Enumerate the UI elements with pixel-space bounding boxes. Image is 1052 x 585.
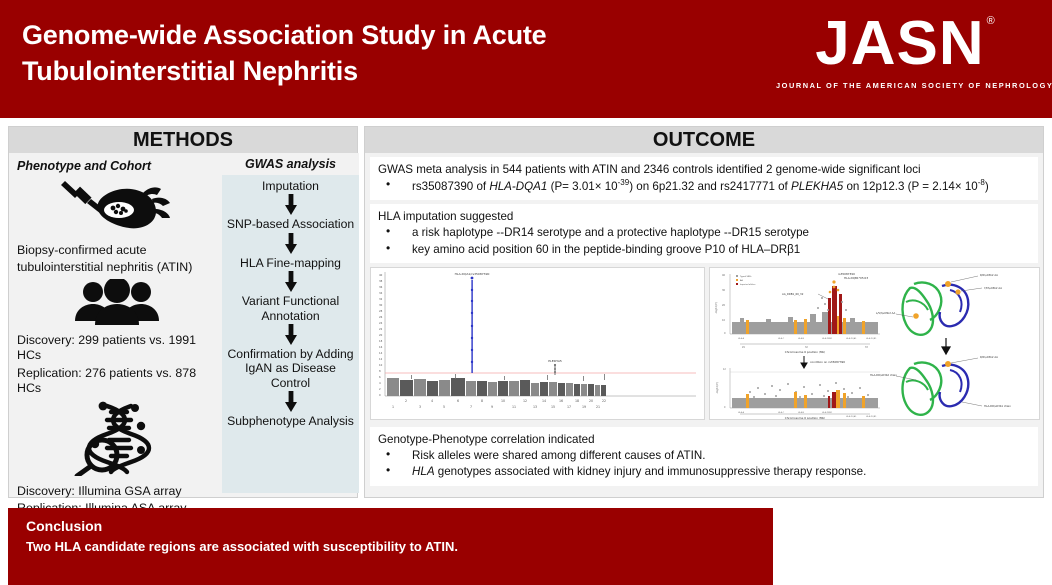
gwas-flowchart: Imputation SNP-based Association HLA Fin…	[222, 175, 359, 493]
conclusion-title: Conclusion	[26, 518, 773, 534]
hla-imputation-bullet-1-text: a risk haplotype --DR14 serotype and a p…	[412, 226, 809, 239]
loci-part-7: )	[985, 180, 989, 193]
page-title: Genome-wide Association Study in Acute T…	[22, 18, 662, 89]
svg-text:0: 0	[724, 332, 726, 335]
svg-text:2: 2	[379, 387, 381, 391]
svg-text:12: 12	[523, 399, 527, 403]
svg-text:28: 28	[379, 309, 383, 313]
hla-imputation-bullet-1: •a risk haplotype --DR14 serotype and a …	[378, 225, 1030, 240]
svg-text:22: 22	[602, 399, 606, 403]
svg-text:40: 40	[379, 273, 383, 277]
svg-text:8: 8	[379, 369, 381, 373]
genotype-phenotype-lead: Genotype-Phenotype correlation indicated	[378, 432, 1030, 447]
gene-hla: HLA	[412, 465, 435, 478]
svg-text:10: 10	[501, 399, 505, 403]
gwas-subtitle: GWAS analysis	[222, 153, 359, 175]
gwas-meta-bullet: •rs35087390 of HLA-DQA1 (P= 3.01× 10-39)…	[378, 178, 1030, 194]
svg-text:10: 10	[722, 319, 726, 322]
gene-plekha5: PLEKHA5	[791, 180, 843, 193]
bullet-icon: •	[386, 224, 390, 240]
genotype-phenotype-bullet-1: •Risk alleles were shared among differen…	[378, 448, 1030, 463]
svg-text:34: 34	[379, 291, 383, 295]
outcome-block-gwas-meta: GWAS meta analysis in 544 patients with …	[370, 157, 1038, 200]
svg-text:HLA-DQA1: HLA-DQA1	[846, 415, 857, 418]
biopsy-caption-line1: Biopsy-confirmed acute	[17, 243, 216, 258]
svg-text:12: 12	[379, 357, 383, 361]
loci-part-6: 10	[962, 180, 978, 193]
conditional-note: condition on rs35087390	[810, 360, 845, 364]
svg-text:18: 18	[379, 339, 383, 343]
svg-text:30: 30	[722, 289, 726, 292]
svg-text:10: 10	[379, 363, 383, 367]
regional-annotation-hla-dqb1: HLA-DQB1*05:03	[844, 276, 868, 280]
regional-annotation-aa-drb1: AA_DRB1_60_32	[782, 292, 804, 296]
cohort-caption-line1: Discovery: 299 patients vs. 1991 HCs	[17, 333, 216, 363]
multiply-icon: ×	[595, 180, 602, 193]
svg-text:HLA-B: HLA-B	[798, 411, 805, 414]
cohort-caption-line2: Replication: 276 patients vs. 878 HCs	[17, 366, 216, 396]
graphical-abstract-page: Genome-wide Association Study in Acute T…	[0, 0, 1052, 585]
outcome-block-genotype-phenotype: Genotype-Phenotype correlation indicated…	[370, 427, 1038, 486]
svg-text:-log10(P): -log10(P)	[715, 382, 719, 394]
svg-text:HLA-C: HLA-C	[778, 337, 785, 340]
structure-label-bottom-3: R/K\u03b2 AA	[980, 355, 998, 359]
conclusion-text: Two HLA candidate regions are associated…	[26, 539, 773, 554]
genotype-phenotype-bullet-2: •HLA genotypes associated with kidney in…	[378, 464, 1030, 479]
methods-heading: METHODS	[9, 127, 357, 153]
svg-text:4: 4	[379, 381, 381, 385]
svg-text:-log10(P): -log10(P)	[714, 302, 718, 314]
structure-label-bottom-2: HLA-DR\u03b1 chain	[984, 404, 1011, 408]
flow-arrow-icon	[222, 271, 359, 293]
flow-arrow-icon	[222, 194, 359, 216]
svg-text:HLA-A: HLA-A	[738, 337, 745, 340]
kidney-biopsy-needle-icon	[17, 177, 216, 240]
jasn-logo-wordmark: JASN ®	[815, 14, 984, 75]
svg-text:16: 16	[379, 345, 383, 349]
outcome-heading: OUTCOME	[365, 127, 1043, 153]
jasn-logo-text: JASN	[815, 9, 984, 78]
svg-text:HLA-DQB1: HLA-DQB1	[866, 337, 877, 340]
loci-part-5: on 12p12.3 (P = 2.14	[843, 180, 955, 193]
svg-text:HLA-A: HLA-A	[738, 411, 745, 414]
svg-text:6: 6	[379, 375, 381, 379]
multiply-icon: ×	[955, 180, 962, 193]
regional-xlabel-top: Chromosome 6 position (Mb)	[785, 350, 825, 354]
svg-text:32: 32	[379, 297, 383, 301]
svg-text:12: 12	[723, 368, 726, 371]
hla-imputation-bullet-2: •key amino acid position 60 in the pepti…	[378, 242, 1030, 257]
flow-arrow-icon	[222, 233, 359, 255]
svg-text:5: 5	[443, 405, 445, 409]
loci-exponent-1: -39	[618, 178, 630, 187]
svg-text:20: 20	[589, 399, 593, 403]
svg-text:21: 21	[596, 405, 600, 409]
methods-panel: METHODS Phenotype and Cohort	[8, 126, 358, 498]
hla-imputation-lead: HLA imputation suggested	[378, 209, 1030, 224]
flow-step-subphenotype-analysis: Subphenotype Analysis	[222, 414, 359, 428]
svg-text:36: 36	[379, 285, 383, 289]
dna-magnifier-icon	[17, 400, 216, 481]
svg-text:38: 38	[379, 279, 383, 283]
svg-text:0: 0	[379, 393, 381, 397]
svg-text:20: 20	[722, 304, 726, 307]
svg-text:HLA-DQA1: HLA-DQA1	[846, 337, 857, 340]
svg-text:8: 8	[481, 399, 483, 403]
loci-part-2: (P= 3.01	[547, 180, 594, 193]
svg-text:3: 3	[419, 405, 421, 409]
page-title-line1: Genome-wide Association Study in Acute	[22, 18, 662, 54]
structure-down-arrow-icon	[942, 338, 950, 354]
svg-text:15: 15	[551, 405, 555, 409]
loci-part-3: 10	[602, 180, 618, 193]
conclusion-banner: Conclusion Two HLA candidate regions are…	[8, 508, 773, 585]
regional-xlabel-bottom: Chromosome 6 position (Mb)	[785, 416, 825, 419]
svg-text:16: 16	[559, 399, 563, 403]
flow-arrow-icon	[222, 324, 359, 346]
bullet-icon: •	[386, 241, 390, 257]
svg-text:2: 2	[405, 399, 407, 403]
jasn-logo: JASN ® JOURNAL OF THE AMERICAN SOCIETY O…	[776, 14, 1024, 90]
manhattan-annotation-hla: HLA-DQA1/rs35087390	[455, 272, 490, 276]
flow-step-imputation: Imputation	[222, 179, 359, 193]
svg-text:29: 29	[742, 346, 745, 349]
manhattan-annotation-plekha5: PLEKHA5	[548, 359, 562, 363]
svg-text:24: 24	[379, 321, 383, 325]
flow-arrow-icon	[222, 391, 359, 413]
hla-imputation-bullet-2-text: key amino acid position 60 in the peptid…	[412, 243, 800, 256]
registered-mark-icon: ®	[987, 16, 996, 27]
protein-structure-top: R/K\u03b2 AA Y/D\u03b2 AA L/V/I\u03b2 AA	[876, 273, 1002, 335]
array-caption-line1: Discovery: Illumina GSA array	[17, 484, 216, 499]
svg-text:14: 14	[542, 399, 546, 403]
flow-step-variant-annotation: Variant Functional Annotation	[222, 294, 359, 323]
svg-text:14: 14	[379, 351, 383, 355]
flow-step-hla-fine-mapping: HLA Fine-mapping	[222, 256, 359, 270]
svg-text:6: 6	[457, 399, 459, 403]
svg-text:Typed SNPs: Typed SNPs	[740, 276, 751, 278]
svg-text:30: 30	[379, 303, 383, 307]
svg-text:9: 9	[491, 405, 493, 409]
svg-text:7: 7	[470, 405, 472, 409]
jasn-logo-tagline: JOURNAL OF THE AMERICAN SOCIETY OF NEPHR…	[776, 81, 1024, 90]
outcome-block-hla-imputation: HLA imputation suggested •a risk haploty…	[370, 204, 1038, 263]
manhattan-plot-figure: 403836 343230 282624 222018 161412 1086 …	[370, 267, 705, 420]
bullet-icon: •	[386, 177, 390, 193]
header-banner: Genome-wide Association Study in Acute T…	[0, 0, 1052, 118]
svg-text:4: 4	[431, 399, 433, 403]
svg-text:40: 40	[722, 274, 726, 277]
genotype-phenotype-bullet-2-text: genotypes associated with kidney injury …	[435, 465, 867, 478]
protein-structure-bottom: R/K\u03b2 AA HLA-DR\u03b2 chain HLA-DR\u…	[870, 355, 1011, 415]
bullet-icon: •	[386, 447, 390, 463]
gwas-meta-lead: GWAS meta analysis in 544 patients with …	[378, 162, 1030, 177]
svg-text:20: 20	[379, 333, 383, 337]
structure-label-bottom-1: HLA-DR\u03b2 chain	[870, 373, 897, 377]
genotype-phenotype-bullet-1-text: Risk alleles were shared among different…	[412, 449, 705, 462]
svg-text:HLA-DRB1: HLA-DRB1	[822, 337, 833, 340]
phenotype-cohort-column: Phenotype and Cohort	[9, 153, 222, 497]
svg-text:17: 17	[567, 405, 571, 409]
hla-regional-and-structure-figure: 4030 20100 -log10(P)	[709, 267, 1040, 420]
page-title-line2: Tubulointerstitial Nephritis	[22, 54, 662, 90]
structure-label-top-2: Y/D\u03b2 AA	[984, 286, 1002, 290]
svg-text:26: 26	[379, 315, 383, 319]
svg-text:13: 13	[533, 405, 537, 409]
bullet-icon: •	[386, 463, 390, 479]
loci-part-1: rs35087390 of	[412, 180, 489, 193]
loci-part-4: ) on 6p21.32 and rs2417771 of	[629, 180, 791, 193]
outcome-panel: OUTCOME GWAS meta analysis in 544 patien…	[364, 126, 1044, 498]
people-group-icon	[17, 279, 216, 330]
svg-text:Imputed alleles: Imputed alleles	[740, 283, 755, 286]
biopsy-caption-line2: tubulointerstitial nephritis (ATIN)	[17, 260, 216, 275]
outcome-figures: 403836 343230 282624 222018 161412 1086 …	[370, 267, 1038, 422]
structure-label-top-3: L/V/I\u03b2 AA	[876, 311, 896, 315]
phenotype-subtitle: Phenotype and Cohort	[17, 159, 216, 173]
gwas-analysis-column: GWAS analysis Imputation SNP-based Assoc…	[222, 153, 359, 497]
svg-text:HLA-C: HLA-C	[778, 411, 785, 414]
svg-text:11: 11	[512, 405, 516, 409]
svg-text:1: 1	[392, 405, 394, 409]
svg-text:HLA-B: HLA-B	[798, 337, 805, 340]
gene-hla-dqa1: HLA-DQA1	[489, 180, 547, 193]
flow-step-snp-association: SNP-based Association	[222, 217, 359, 231]
svg-text:HLA-DRB1: HLA-DRB1	[822, 411, 833, 414]
svg-text:22: 22	[379, 327, 383, 331]
svg-text:0: 0	[724, 406, 726, 409]
structure-label-top-1: R/K\u03b2 AA	[980, 273, 998, 277]
svg-text:33: 33	[865, 346, 868, 349]
svg-text:18: 18	[575, 399, 579, 403]
svg-text:HLA-DQB1: HLA-DQB1	[866, 415, 877, 418]
flow-step-igan-confirmation: Confirmation by Adding IgAN as Disease C…	[222, 347, 359, 390]
svg-text:32: 32	[805, 346, 808, 349]
svg-text:19: 19	[582, 405, 586, 409]
svg-text:AA: AA	[740, 279, 743, 282]
loci-exponent-2: -8	[978, 178, 985, 187]
